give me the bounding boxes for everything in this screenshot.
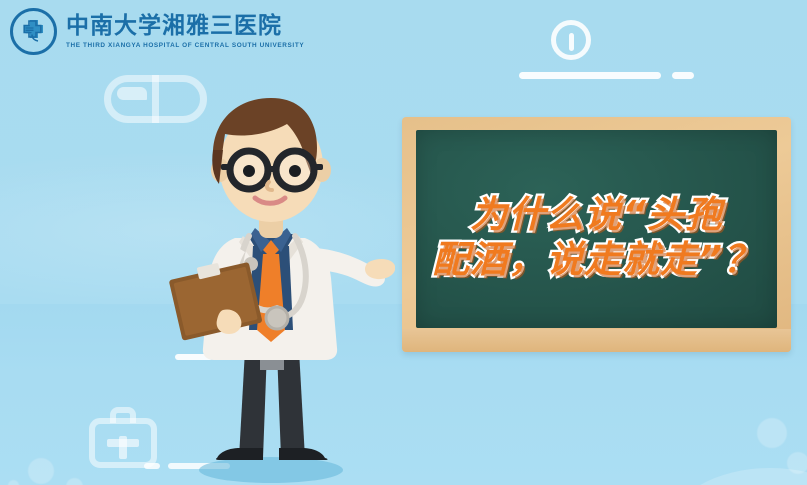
hospital-logo: 中南大学湘雅三医院 THE THIRD XIANGYA HOSPITAL OF … [10,8,304,55]
first-aid-bag-icon [89,418,157,468]
doctor-illustration [165,78,395,485]
bag-handle [110,407,136,423]
bubble-decoration [8,480,19,485]
hospital-name-en: THE THIRD XIANGYA HOSPITAL OF CENTRAL SO… [66,42,304,49]
chalkboard: 为什么说“头孢 配酒，说走就走”？ [402,117,791,352]
bubble-decoration [787,452,807,474]
medical-cross-circle-icon [10,8,57,55]
chalkboard-tray [402,329,791,352]
hospital-name-cn: 中南大学湘雅三医院 [66,14,304,40]
horizontal-dash-icon [144,463,160,469]
chalkboard-surface: 为什么说“头孢 配酒，说走就走”？ [416,130,777,328]
bubble-decoration [28,458,54,484]
horizontal-dash-icon [672,72,694,79]
cross-icon [107,439,139,447]
chalkboard-title: 为什么说“头孢 配酒，说走就走”？ [430,192,763,282]
horizontal-line-icon [519,72,661,79]
hospital-logo-text: 中南大学湘雅三医院 THE THIRD XIANGYA HOSPITAL OF … [66,14,304,49]
bubble-decoration [757,418,787,448]
hand-right [365,259,395,279]
video-frame: 中南大学湘雅三医院 THE THIRD XIANGYA HOSPITAL OF … [0,0,807,485]
circle-line-icon [551,20,591,60]
